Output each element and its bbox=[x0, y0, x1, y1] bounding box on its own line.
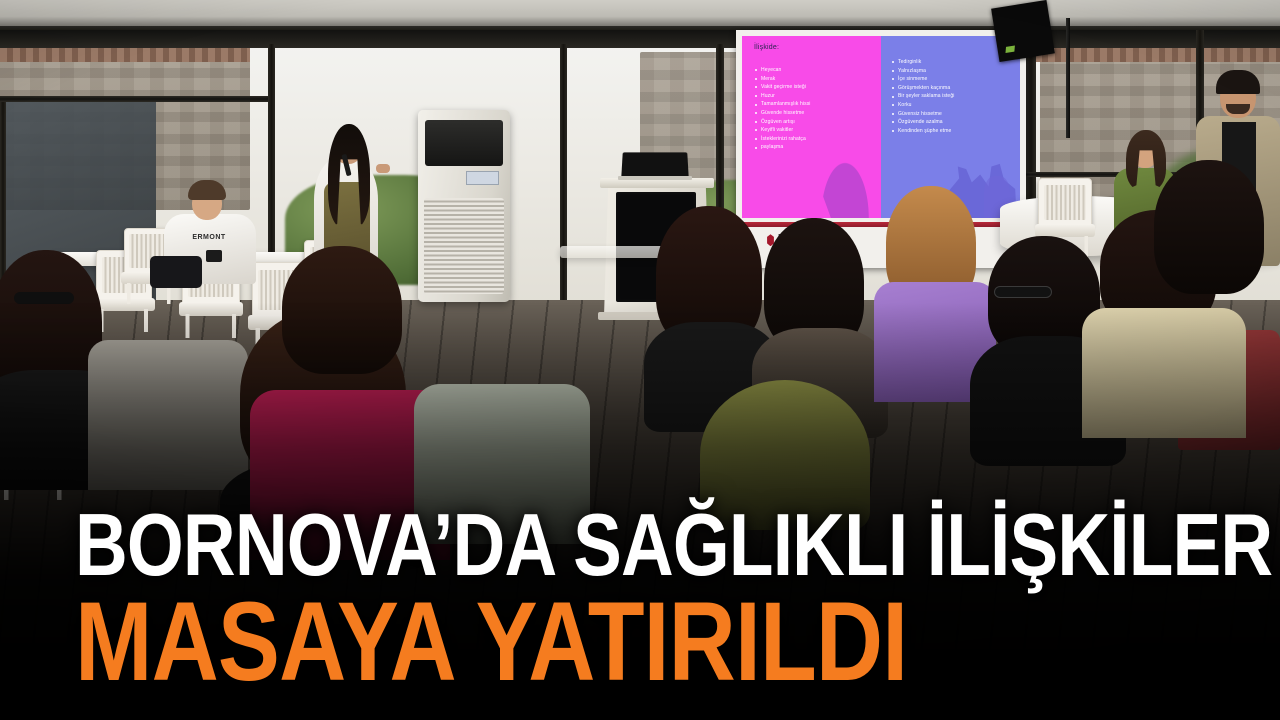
ac-intake-panel bbox=[425, 120, 502, 166]
headline-line-2: MASAYA YATIRILDI bbox=[75, 593, 1046, 692]
list-item: İçe sinmeme bbox=[891, 75, 954, 84]
audience-hair bbox=[1154, 160, 1264, 294]
list-item: Heyecan bbox=[754, 66, 811, 75]
slide-right-list: Tedirginlik Yalnızlaşma İçe sinmeme Görü… bbox=[891, 58, 954, 135]
slide-illustration-couple bbox=[813, 144, 877, 218]
list-item: Yalnızlaşma bbox=[891, 67, 954, 76]
list-item-continuation: paylaşma bbox=[754, 143, 811, 152]
air-conditioner-unit bbox=[418, 110, 510, 302]
list-item: Tamamlanmışlık hissi bbox=[754, 100, 811, 109]
list-item: Korku bbox=[891, 101, 954, 110]
list-item: Güvende hissetme bbox=[754, 109, 811, 118]
ac-control-panel bbox=[466, 171, 499, 184]
laptop bbox=[621, 152, 689, 178]
headline-overlay: BORNOVA’DA SAĞLIKLI İLİŞKİLER MASAYA YAT… bbox=[75, 506, 1245, 692]
speaker-label-sticker bbox=[1005, 45, 1014, 53]
audience-member bbox=[282, 246, 402, 416]
list-item: İsteklerinizi rahatça bbox=[754, 135, 811, 144]
list-item: Kendinden şüphe etme bbox=[891, 127, 954, 136]
audience-member bbox=[92, 270, 232, 480]
ceiling-header-beam bbox=[0, 30, 1280, 48]
slide-heading: İlişkide: bbox=[754, 44, 779, 51]
headline-line-1: BORNOVA’DA SAĞLIKLI İLİŞKİLER bbox=[75, 506, 1046, 583]
list-item: Huzur bbox=[754, 92, 811, 101]
standing-man-hair bbox=[1216, 70, 1260, 94]
list-item: Keyifli vakitler bbox=[754, 126, 811, 135]
window-mullion-2 bbox=[560, 44, 567, 344]
list-item: Güvensiz hissetme bbox=[891, 110, 954, 119]
standing-man-beard bbox=[1226, 104, 1250, 114]
slide-left-panel: İlişkide: Heyecan Merak Vakit geçirme is… bbox=[742, 36, 881, 218]
chair-back bbox=[1038, 178, 1092, 228]
list-item: Görüşmekten kaçınma bbox=[891, 84, 954, 93]
list-item: Tedirginlik bbox=[891, 58, 954, 67]
list-item: Özgüvende azalma bbox=[891, 118, 954, 127]
list-item: Özgüven artışı bbox=[754, 118, 811, 127]
laptop-base bbox=[618, 176, 692, 180]
list-item: Merak bbox=[754, 75, 811, 84]
glasses-icon bbox=[14, 292, 74, 304]
presenter-hand bbox=[376, 164, 390, 173]
pa-speaker bbox=[991, 0, 1055, 62]
audience-hair bbox=[282, 246, 402, 374]
glasses-icon bbox=[994, 286, 1052, 298]
audience-coat bbox=[88, 340, 248, 490]
ac-vent-grill bbox=[424, 198, 503, 294]
speaker-stand-pole bbox=[1066, 18, 1070, 138]
audience-member bbox=[880, 186, 984, 376]
slide-left-list: Heyecan Merak Vakit geçirme isteği Huzur… bbox=[754, 66, 811, 152]
list-item: Vakit geçirme isteği bbox=[754, 83, 811, 92]
audience-member bbox=[1150, 160, 1270, 360]
sweatshirt-print: ERMONT bbox=[186, 234, 232, 242]
news-photo-card: İlişkide: Heyecan Merak Vakit geçirme is… bbox=[0, 0, 1280, 720]
list-item: Bir şeyler saklama isteği bbox=[891, 92, 954, 101]
attendee-hair bbox=[188, 180, 226, 200]
smartphone-icon bbox=[206, 250, 222, 262]
